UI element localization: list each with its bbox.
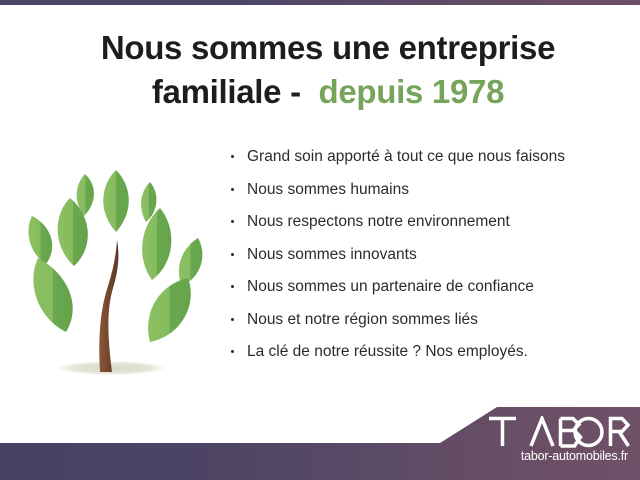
page-title-accent: depuis 1978 [319, 73, 505, 110]
list-item: Nous et notre région sommes liés [228, 311, 628, 328]
list-item: La clé de notre réussite ? Nos employés. [228, 343, 628, 360]
bullet-dot-icon [231, 253, 234, 256]
brand-logo[interactable]: tabor-automobiles.fr [488, 416, 630, 463]
list-item-label: Nous sommes un partenaire de confiance [247, 278, 534, 295]
bullet-dot-icon [231, 318, 234, 321]
tree-icon [12, 160, 217, 380]
list-item-label: Grand soin apporté à tout ce que nous fa… [247, 148, 565, 165]
bullet-dot-icon [231, 220, 234, 223]
bullet-dot-icon [231, 155, 234, 158]
tree-illustration [12, 160, 217, 380]
list-item: Grand soin apporté à tout ce que nous fa… [228, 148, 628, 165]
tree-trunk [99, 240, 118, 372]
tabor-wordmark-icon [488, 416, 630, 448]
list-item-label: La clé de notre réussite ? Nos employés. [247, 343, 528, 360]
list-item-label: Nous sommes humains [247, 181, 409, 198]
list-item: Nous sommes humains [228, 181, 628, 198]
bullet-dot-icon [231, 188, 234, 191]
page-title: Nous sommes une entreprise familiale - d… [50, 26, 606, 114]
list-item: Nous sommes un partenaire de confiance [228, 278, 628, 295]
benefits-list: Grand soin apporté à tout ce que nous fa… [228, 148, 628, 376]
list-item-label: Nous sommes innovants [247, 246, 417, 263]
bullet-dot-icon [231, 350, 234, 353]
page-title-line-1: Nous sommes une entreprise [50, 26, 606, 70]
page-title-line-2: familiale - depuis 1978 [50, 70, 606, 114]
top-accent-strip [0, 0, 640, 5]
list-item-label: Nous et notre région sommes liés [247, 311, 478, 328]
slide-canvas: Nous sommes une entreprise familiale - d… [0, 0, 640, 480]
list-item: Nous sommes innovants [228, 246, 628, 263]
list-item: Nous respectons notre environnement [228, 213, 628, 230]
brand-url: tabor-automobiles.fr [488, 449, 630, 463]
bullet-dot-icon [231, 285, 234, 288]
list-item-label: Nous respectons notre environnement [247, 213, 510, 230]
page-title-line-2-plain: familiale - [152, 73, 319, 110]
